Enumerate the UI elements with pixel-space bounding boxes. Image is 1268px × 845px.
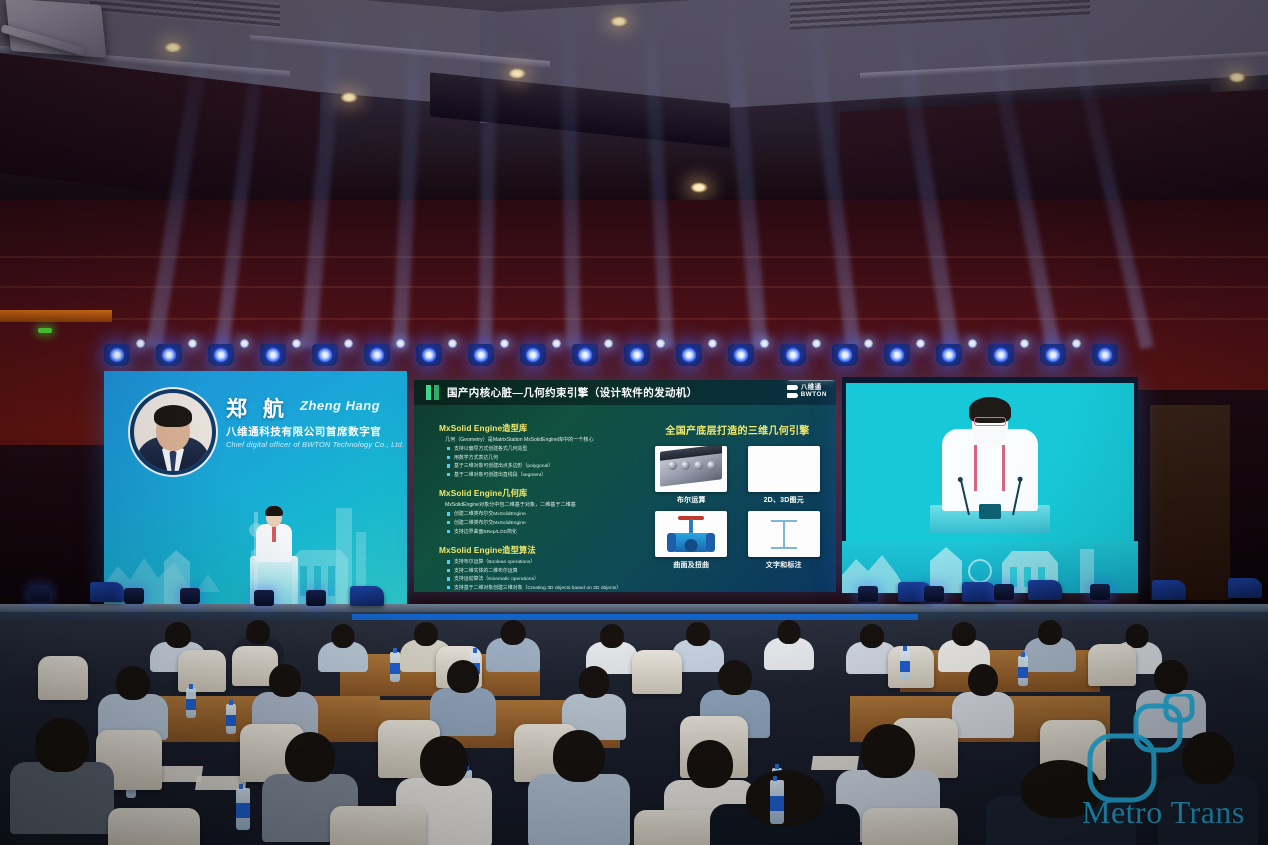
video-lanyard-right bbox=[1002, 445, 1005, 491]
slide-accent-marks bbox=[426, 385, 440, 400]
slide-section-heading: MxSolid Engine几何库 bbox=[439, 487, 634, 499]
video-lanyard-left bbox=[974, 445, 977, 491]
par-light-small bbox=[344, 339, 353, 348]
par-light-small bbox=[1072, 339, 1081, 348]
slide-left-column: MxSolid Engine造型库 几何（Geometry）是MatrixSta… bbox=[439, 422, 634, 592]
ceiling-downlight-6 bbox=[1228, 72, 1246, 83]
par-light bbox=[884, 344, 910, 366]
par-light-small bbox=[968, 339, 977, 348]
text-annotation-thumbnail bbox=[748, 511, 820, 557]
par-light-small bbox=[136, 339, 145, 348]
speaker-title-en: Chief digital officer of BWTON Technolog… bbox=[226, 440, 404, 449]
par-light bbox=[1040, 344, 1066, 366]
par-light bbox=[156, 344, 182, 366]
slide-bullet: 基于三维对象可创建出点多边形（polygonal） bbox=[447, 462, 634, 469]
slide-bullet: 用数学方式表达几何 bbox=[447, 454, 634, 461]
slide-title: 国产内核心脏—几何约束引擎（设计软件的发动机） bbox=[447, 385, 698, 400]
speaker-portrait-avatar bbox=[128, 387, 218, 477]
slide-bullet: 创建二维类布尔交MxSolidEngine bbox=[447, 519, 634, 526]
stage-monitor-speaker bbox=[1152, 580, 1186, 600]
par-light-small bbox=[812, 339, 821, 348]
moving-head-light bbox=[858, 586, 878, 602]
par-light bbox=[780, 344, 806, 366]
moving-head-light bbox=[30, 586, 50, 602]
moving-head-light bbox=[1090, 584, 1110, 600]
speaker-name-en: Zheng Hang bbox=[300, 398, 380, 413]
live-video-frame bbox=[846, 383, 1134, 553]
thumb-caption: 文字和标注 bbox=[766, 560, 802, 570]
par-light bbox=[832, 344, 858, 366]
par-light bbox=[104, 344, 130, 366]
moving-head-light bbox=[994, 584, 1014, 600]
thumb-caption: 布尔运算 bbox=[677, 495, 706, 505]
wall-slat bbox=[0, 318, 1268, 320]
wall-slat bbox=[0, 256, 1268, 258]
slide-thumb-cell: 布尔运算 bbox=[650, 446, 733, 505]
par-light-small bbox=[188, 339, 197, 348]
audience-chair bbox=[178, 650, 226, 692]
video-speaker-glasses bbox=[974, 417, 1006, 426]
moving-head-light bbox=[924, 586, 944, 602]
audience-chair bbox=[862, 808, 958, 845]
audience-person bbox=[586, 624, 638, 670]
moving-head-light bbox=[180, 588, 200, 604]
thumb-caption: 2D、3D图元 bbox=[764, 495, 804, 505]
par-light-small bbox=[240, 339, 249, 348]
water-bottle bbox=[770, 780, 784, 824]
stage-light-bar bbox=[104, 340, 1124, 368]
audience-person bbox=[952, 664, 1014, 734]
par-light bbox=[468, 344, 494, 366]
audience-person bbox=[318, 624, 368, 668]
slide-thumb-cell: 曲面及扭曲 bbox=[650, 511, 733, 570]
audience-person bbox=[528, 730, 630, 840]
water-bottle bbox=[1018, 656, 1028, 686]
par-light bbox=[208, 344, 234, 366]
moving-head-light bbox=[254, 590, 274, 606]
ceiling-downlight-1 bbox=[164, 42, 182, 53]
water-bottle bbox=[390, 652, 400, 682]
slide-header-bar: 国产内核心脏—几何约束引擎（设计软件的发动机） 八维通 BWTON bbox=[414, 380, 836, 405]
ceiling-downlight-5 bbox=[690, 182, 708, 193]
ceiling-downlight-4 bbox=[610, 16, 628, 27]
wall-slat bbox=[0, 286, 1268, 288]
left-led-screen-speaker-card: 郑 航 Zheng Hang 八维通科技有限公司首席数字官 Chief digi… bbox=[104, 371, 407, 606]
surface-distortion-thumbnail bbox=[655, 511, 727, 557]
boolean-operations-thumbnail bbox=[655, 446, 727, 492]
water-bottle bbox=[186, 688, 196, 718]
slide-thumb-cell: 文字和标注 bbox=[743, 511, 826, 570]
par-light-small bbox=[604, 339, 613, 348]
par-light-small bbox=[916, 339, 925, 348]
slide-section-heading: MxSolid Engine造型算法 bbox=[439, 544, 634, 556]
primitives-thumbnail bbox=[748, 446, 820, 492]
audience-person bbox=[764, 620, 814, 666]
par-light bbox=[572, 344, 598, 366]
audience-chair bbox=[888, 646, 934, 688]
par-light bbox=[312, 344, 338, 366]
audience-person bbox=[1158, 732, 1258, 840]
audience-seating-area bbox=[0, 620, 1268, 845]
slide-section-subtitle: MxSolidEngine对象分中包二维基于对象，二维基于二维基 bbox=[445, 501, 634, 508]
speaker-title-cn: 八维通科技有限公司首席数字官 bbox=[226, 424, 381, 439]
screen-podium-speaker-figure bbox=[244, 506, 304, 606]
moving-head-light bbox=[306, 590, 326, 606]
center-led-screen-presentation-slide: 国产内核心脏—几何约束引擎（设计软件的发动机） 八维通 BWTON MxSoli… bbox=[414, 380, 836, 592]
par-light bbox=[364, 344, 390, 366]
par-light bbox=[260, 344, 286, 366]
right-led-screen-live-feed bbox=[842, 377, 1138, 593]
water-bottle bbox=[900, 650, 910, 680]
par-light bbox=[520, 344, 546, 366]
par-light bbox=[988, 344, 1014, 366]
par-light-small bbox=[396, 339, 405, 348]
par-light-small bbox=[500, 339, 509, 348]
par-light-small bbox=[864, 339, 873, 348]
par-light-small bbox=[1020, 339, 1029, 348]
moving-head-light bbox=[124, 588, 144, 604]
audience-chair bbox=[1088, 644, 1136, 686]
stage-monitor-speaker bbox=[90, 582, 124, 602]
bwton-logo-mark bbox=[787, 385, 798, 398]
wall-orange-ledge bbox=[0, 310, 112, 322]
audience-person-foreground bbox=[986, 760, 1136, 845]
stage-monitor-speaker bbox=[1228, 578, 1262, 598]
audience-person bbox=[430, 660, 496, 732]
audience-chair bbox=[108, 808, 200, 845]
stage-monitor-speaker bbox=[962, 582, 996, 602]
ceiling-downlight-2 bbox=[340, 92, 358, 103]
video-podium-laptop bbox=[979, 504, 1001, 519]
slide-thumb-cell: 2D、3D图元 bbox=[743, 446, 826, 505]
audience-chair bbox=[38, 656, 88, 700]
thumb-caption: 曲面及扭曲 bbox=[673, 560, 709, 570]
water-bottle bbox=[226, 704, 236, 734]
audience-chair bbox=[330, 806, 426, 845]
equipment-led-indicator bbox=[38, 328, 52, 333]
par-light-small bbox=[448, 339, 457, 348]
par-light-small bbox=[708, 339, 717, 348]
conference-hall-photo: 郑 航 Zheng Hang 八维通科技有限公司首席数字官 Chief digi… bbox=[0, 0, 1268, 845]
slide-right-column: 全国产底层打造的三维几何引擎 布尔运算 2D、3D图元 bbox=[650, 422, 825, 570]
par-light bbox=[1092, 344, 1118, 366]
par-light-small bbox=[656, 339, 665, 348]
presentation-timer: 02:33 bbox=[788, 380, 834, 381]
stage-monitor-speaker bbox=[350, 586, 384, 606]
slide-bullet: 支持布尔运算（Boolean operations） bbox=[447, 558, 634, 565]
slide-bullet: 支持二维实体的二维布尔运算 bbox=[447, 567, 634, 574]
par-light bbox=[936, 344, 962, 366]
audience-person bbox=[10, 718, 114, 828]
slide-bullet: 支持以偏导方式创建各式几何造型 bbox=[447, 445, 634, 452]
slide-bullet: 支持基于二维对象创建三维对象（Creating 3D objects based… bbox=[447, 584, 634, 591]
slide-right-title: 全国产底层打造的三维几何引擎 bbox=[650, 422, 825, 437]
par-light bbox=[728, 344, 754, 366]
par-light bbox=[624, 344, 650, 366]
audience-person bbox=[1024, 620, 1076, 668]
audience-chair bbox=[632, 650, 682, 694]
par-light-small bbox=[552, 339, 561, 348]
stage-monitor-speaker bbox=[1028, 580, 1062, 600]
bwton-logo: 八维通 BWTON bbox=[787, 385, 827, 398]
slide-section-heading: MxSolid Engine造型库 bbox=[439, 422, 634, 434]
slide-bullet: 支持边界曲面BRep/LOD简化 bbox=[447, 528, 634, 535]
slide-section-subtitle: 几何（Geometry）是MatrixStation MxSolidEngine… bbox=[445, 436, 634, 443]
wall-wood-panel-right bbox=[1150, 405, 1230, 600]
slide-bullet: 创建二维类布尔交MxSolidEngine bbox=[447, 510, 634, 517]
par-light-small bbox=[760, 339, 769, 348]
audience-person bbox=[1136, 660, 1206, 734]
audience-person bbox=[938, 622, 990, 668]
par-light-small bbox=[292, 339, 301, 348]
bwton-logo-en: BWTON bbox=[801, 392, 827, 398]
slide-bullet: 基于二维对象可创建出直线段（segment） bbox=[447, 471, 634, 478]
water-bottle bbox=[236, 788, 250, 830]
speaker-name-cn: 郑 航 bbox=[226, 393, 289, 423]
audience-person-foreground bbox=[710, 770, 860, 845]
ceiling-downlight-3 bbox=[508, 68, 526, 79]
par-light bbox=[676, 344, 702, 366]
par-light bbox=[416, 344, 442, 366]
slide-bullet: 支持运动算法（Kinematic operations） bbox=[447, 575, 634, 582]
